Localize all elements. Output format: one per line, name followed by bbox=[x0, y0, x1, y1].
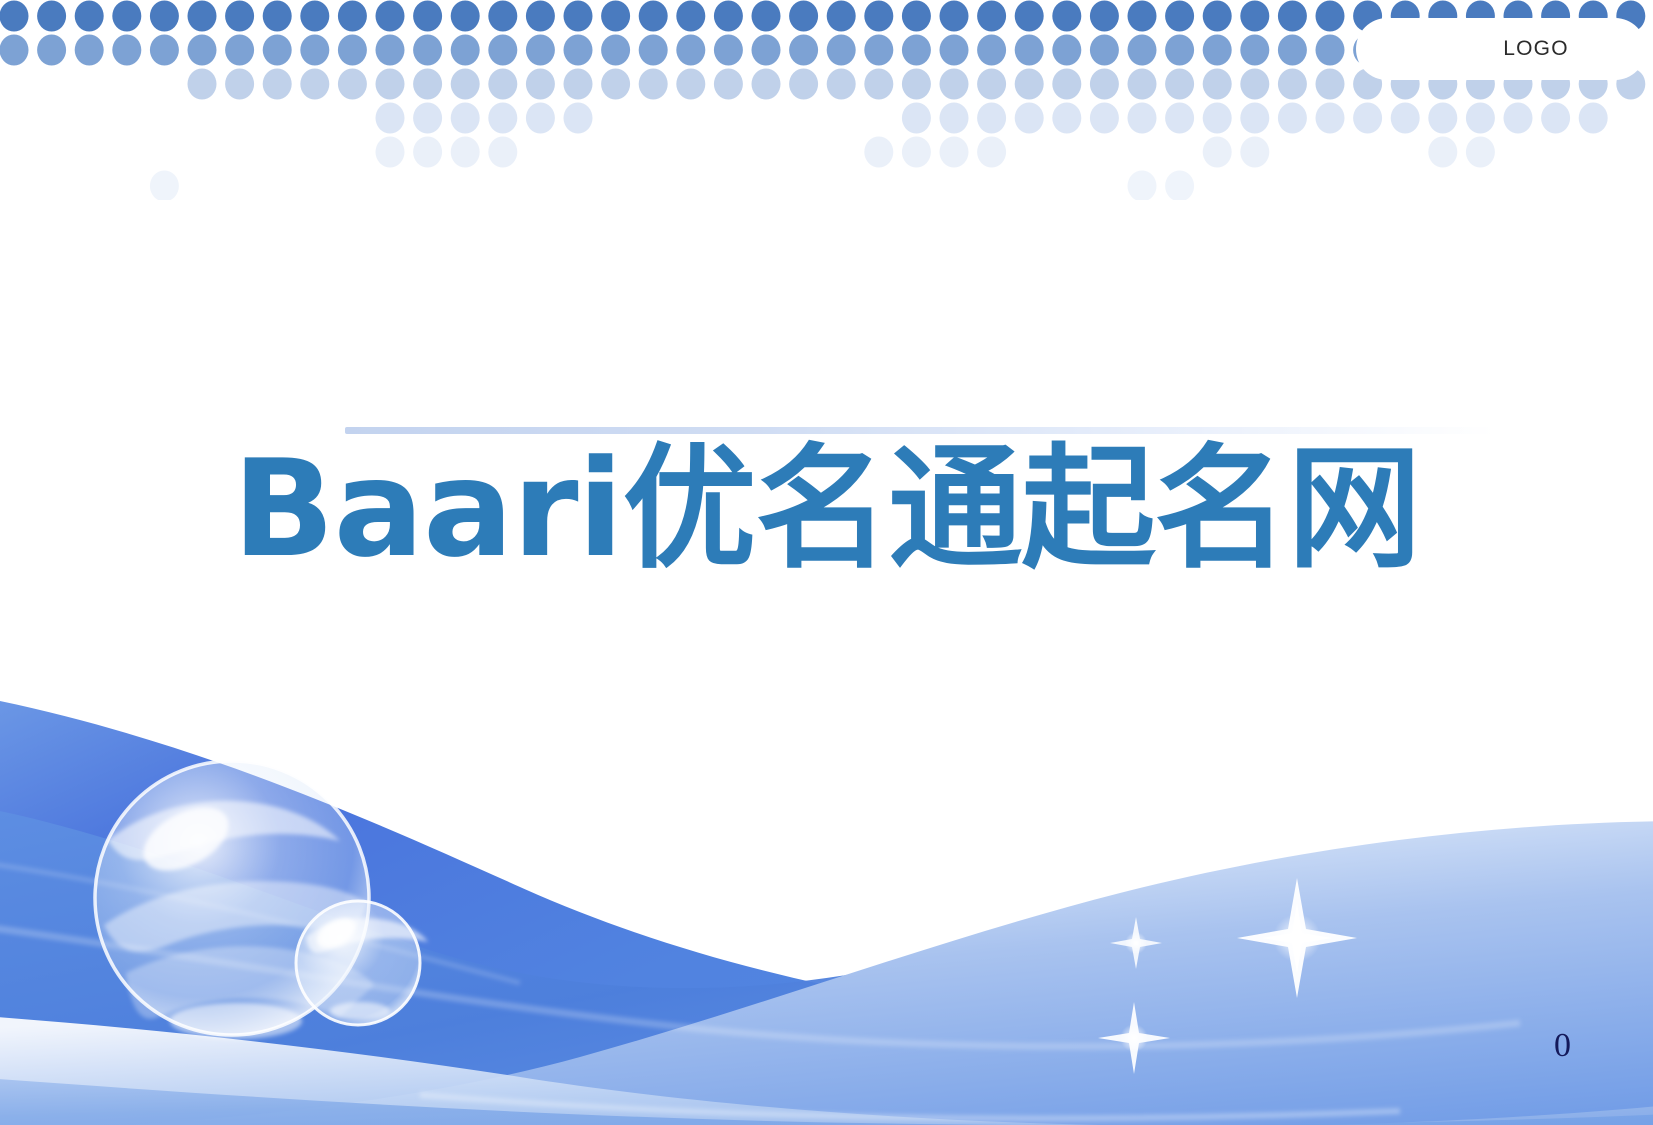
logo-placeholder[interactable]: LOGO bbox=[1356, 18, 1646, 80]
presentation-slide: LOGO Baari优名通起名网 bbox=[0, 0, 1653, 1125]
bottom-wave-artwork bbox=[0, 625, 1653, 1125]
large-bubble-icon bbox=[95, 761, 374, 1039]
small-bubble-icon bbox=[296, 901, 428, 1025]
sparkle-3-icon bbox=[1098, 1002, 1170, 1074]
logo-label: LOGO bbox=[1433, 37, 1568, 61]
sparkle-1-icon bbox=[1237, 878, 1357, 998]
sparkle-4-icon bbox=[1110, 917, 1162, 969]
page-title: Baari优名通起名网 bbox=[0, 430, 1653, 588]
page-number: 0 bbox=[1554, 1027, 1571, 1065]
sparkle-2-icon bbox=[1096, 803, 1180, 887]
